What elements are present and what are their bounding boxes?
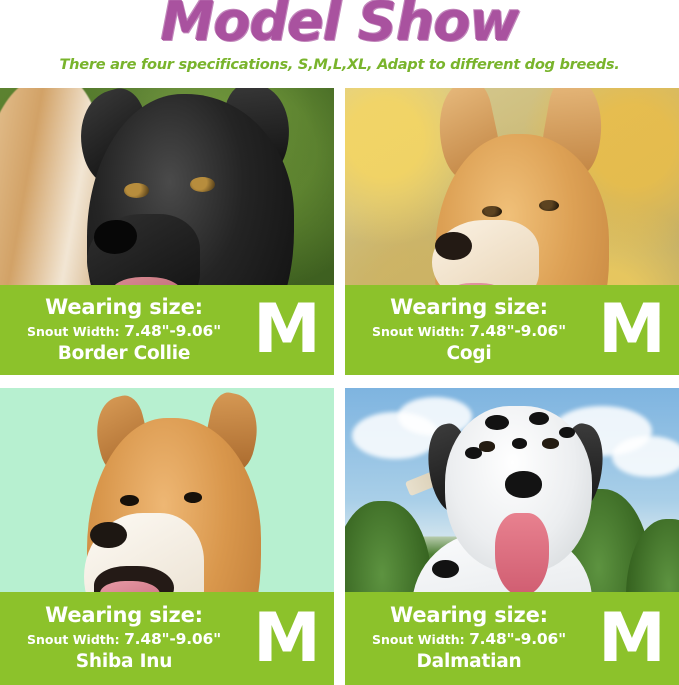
dog-eye-right (542, 438, 559, 448)
size-info-text: Wearing size: Snout Width: 7.48"-9.06" D… (345, 605, 583, 672)
breed-name: Cogi (355, 345, 583, 364)
dog-tongue (495, 513, 548, 596)
snout-width-label: Snout Width: (372, 632, 465, 647)
snout-width-label: Snout Width: (27, 324, 120, 339)
breed-name: Shiba Inu (10, 653, 238, 672)
snout-width-value: 7.48"-9.06" (469, 630, 566, 648)
model-show-grid: Wearing size: Snout Width: 7.48"-9.06" B… (0, 88, 679, 685)
size-badge: M (238, 302, 334, 358)
dog-spot (485, 415, 508, 430)
dog-nose (435, 232, 472, 261)
wearing-size-heading: Wearing size: (355, 605, 583, 626)
breed-name: Dalmatian (355, 653, 583, 672)
snout-width-line: Snout Width: 7.48"-9.06" (355, 632, 583, 648)
dog-spot (512, 438, 527, 448)
wearing-size-heading: Wearing size: (10, 297, 238, 318)
snout-width-line: Snout Width: 7.48"-9.06" (10, 632, 238, 648)
size-badge: M (583, 302, 679, 358)
size-info-bar: Wearing size: Snout Width: 7.48"-9.06" S… (0, 592, 334, 685)
size-info-bar: Wearing size: Snout Width: 7.48"-9.06" B… (0, 285, 334, 375)
breed-card-shiba-inu[interactable]: Wearing size: Snout Width: 7.48"-9.06" S… (0, 388, 334, 685)
dog-eye-left (482, 206, 502, 217)
dog-eye-right (184, 492, 202, 503)
dog-nose (505, 471, 542, 498)
breed-card-cogi[interactable]: Wearing size: Snout Width: 7.48"-9.06" C… (345, 88, 679, 375)
wearing-size-heading: Wearing size: (355, 297, 583, 318)
snout-width-label: Snout Width: (372, 324, 465, 339)
page-title: Model Show (0, 0, 679, 51)
breed-card-border-collie[interactable]: Wearing size: Snout Width: 7.48"-9.06" B… (0, 88, 334, 375)
breed-card-dalmatian[interactable]: Wearing size: Snout Width: 7.48"-9.06" D… (345, 388, 679, 685)
snout-width-line: Snout Width: 7.48"-9.06" (355, 324, 583, 340)
size-info-bar: Wearing size: Snout Width: 7.48"-9.06" D… (345, 592, 679, 685)
dog-eye-left (479, 441, 496, 451)
snout-width-value: 7.48"-9.06" (124, 630, 221, 648)
dog-nose (90, 522, 127, 549)
wearing-size-heading: Wearing size: (10, 605, 238, 626)
dog-spot (529, 412, 549, 425)
size-info-text: Wearing size: Snout Width: 7.48"-9.06" C… (345, 297, 583, 364)
size-badge: M (583, 611, 679, 667)
size-info-bar: Wearing size: Snout Width: 7.48"-9.06" C… (345, 285, 679, 375)
snout-width-value: 7.48"-9.06" (469, 322, 566, 340)
size-info-text: Wearing size: Snout Width: 7.48"-9.06" B… (0, 297, 238, 364)
size-badge: M (238, 611, 334, 667)
dog-eye-left (120, 495, 138, 506)
snout-width-line: Snout Width: 7.48"-9.06" (10, 324, 238, 340)
dog-spot (432, 560, 459, 578)
breed-name: Border Collie (10, 345, 238, 364)
snout-width-label: Snout Width: (27, 632, 120, 647)
dog-eye-left (124, 183, 149, 198)
header: Model Show There are four specifications… (0, 0, 679, 88)
snout-width-value: 7.48"-9.06" (124, 322, 221, 340)
page-subtitle: There are four specifications, S,M,L,XL,… (0, 56, 679, 73)
cloud-shape (612, 436, 679, 478)
size-info-text: Wearing size: Snout Width: 7.48"-9.06" S… (0, 605, 238, 672)
